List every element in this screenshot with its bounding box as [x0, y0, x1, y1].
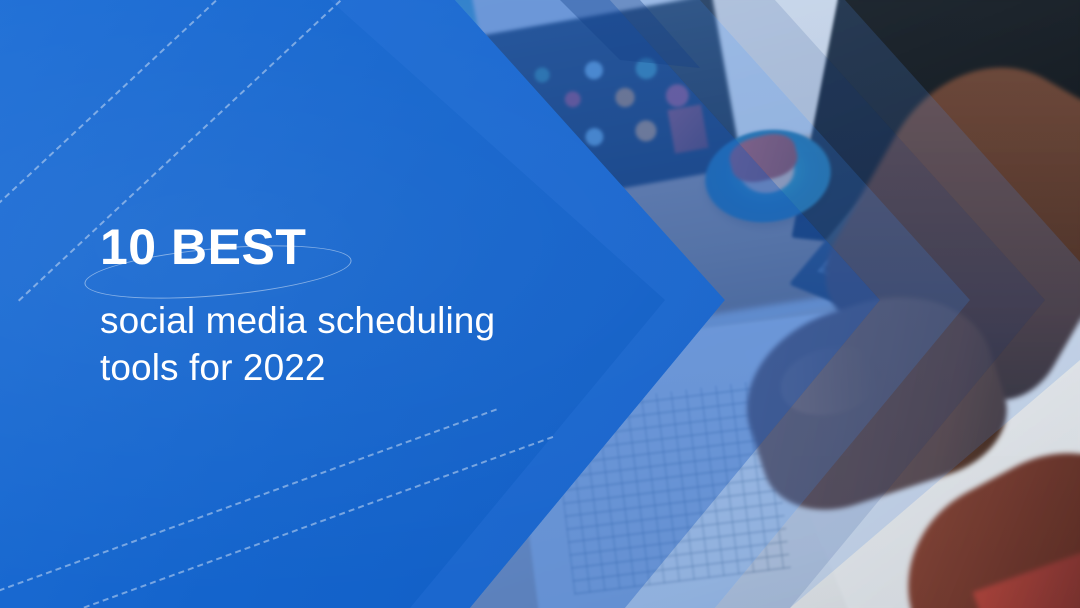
- headline-eyebrow: 10 BEST: [100, 222, 306, 273]
- promo-banner: 10 BEST social media scheduling tools fo…: [0, 0, 1080, 608]
- eyebrow-wrapper: 10 BEST: [100, 222, 306, 273]
- headline-subhead: social media scheduling tools for 2022: [100, 297, 620, 392]
- headline-block: 10 BEST social media scheduling tools fo…: [100, 222, 620, 392]
- headline-subhead-line-2: tools for 2022: [100, 344, 620, 391]
- headline-subhead-line-1: social media scheduling: [100, 300, 495, 341]
